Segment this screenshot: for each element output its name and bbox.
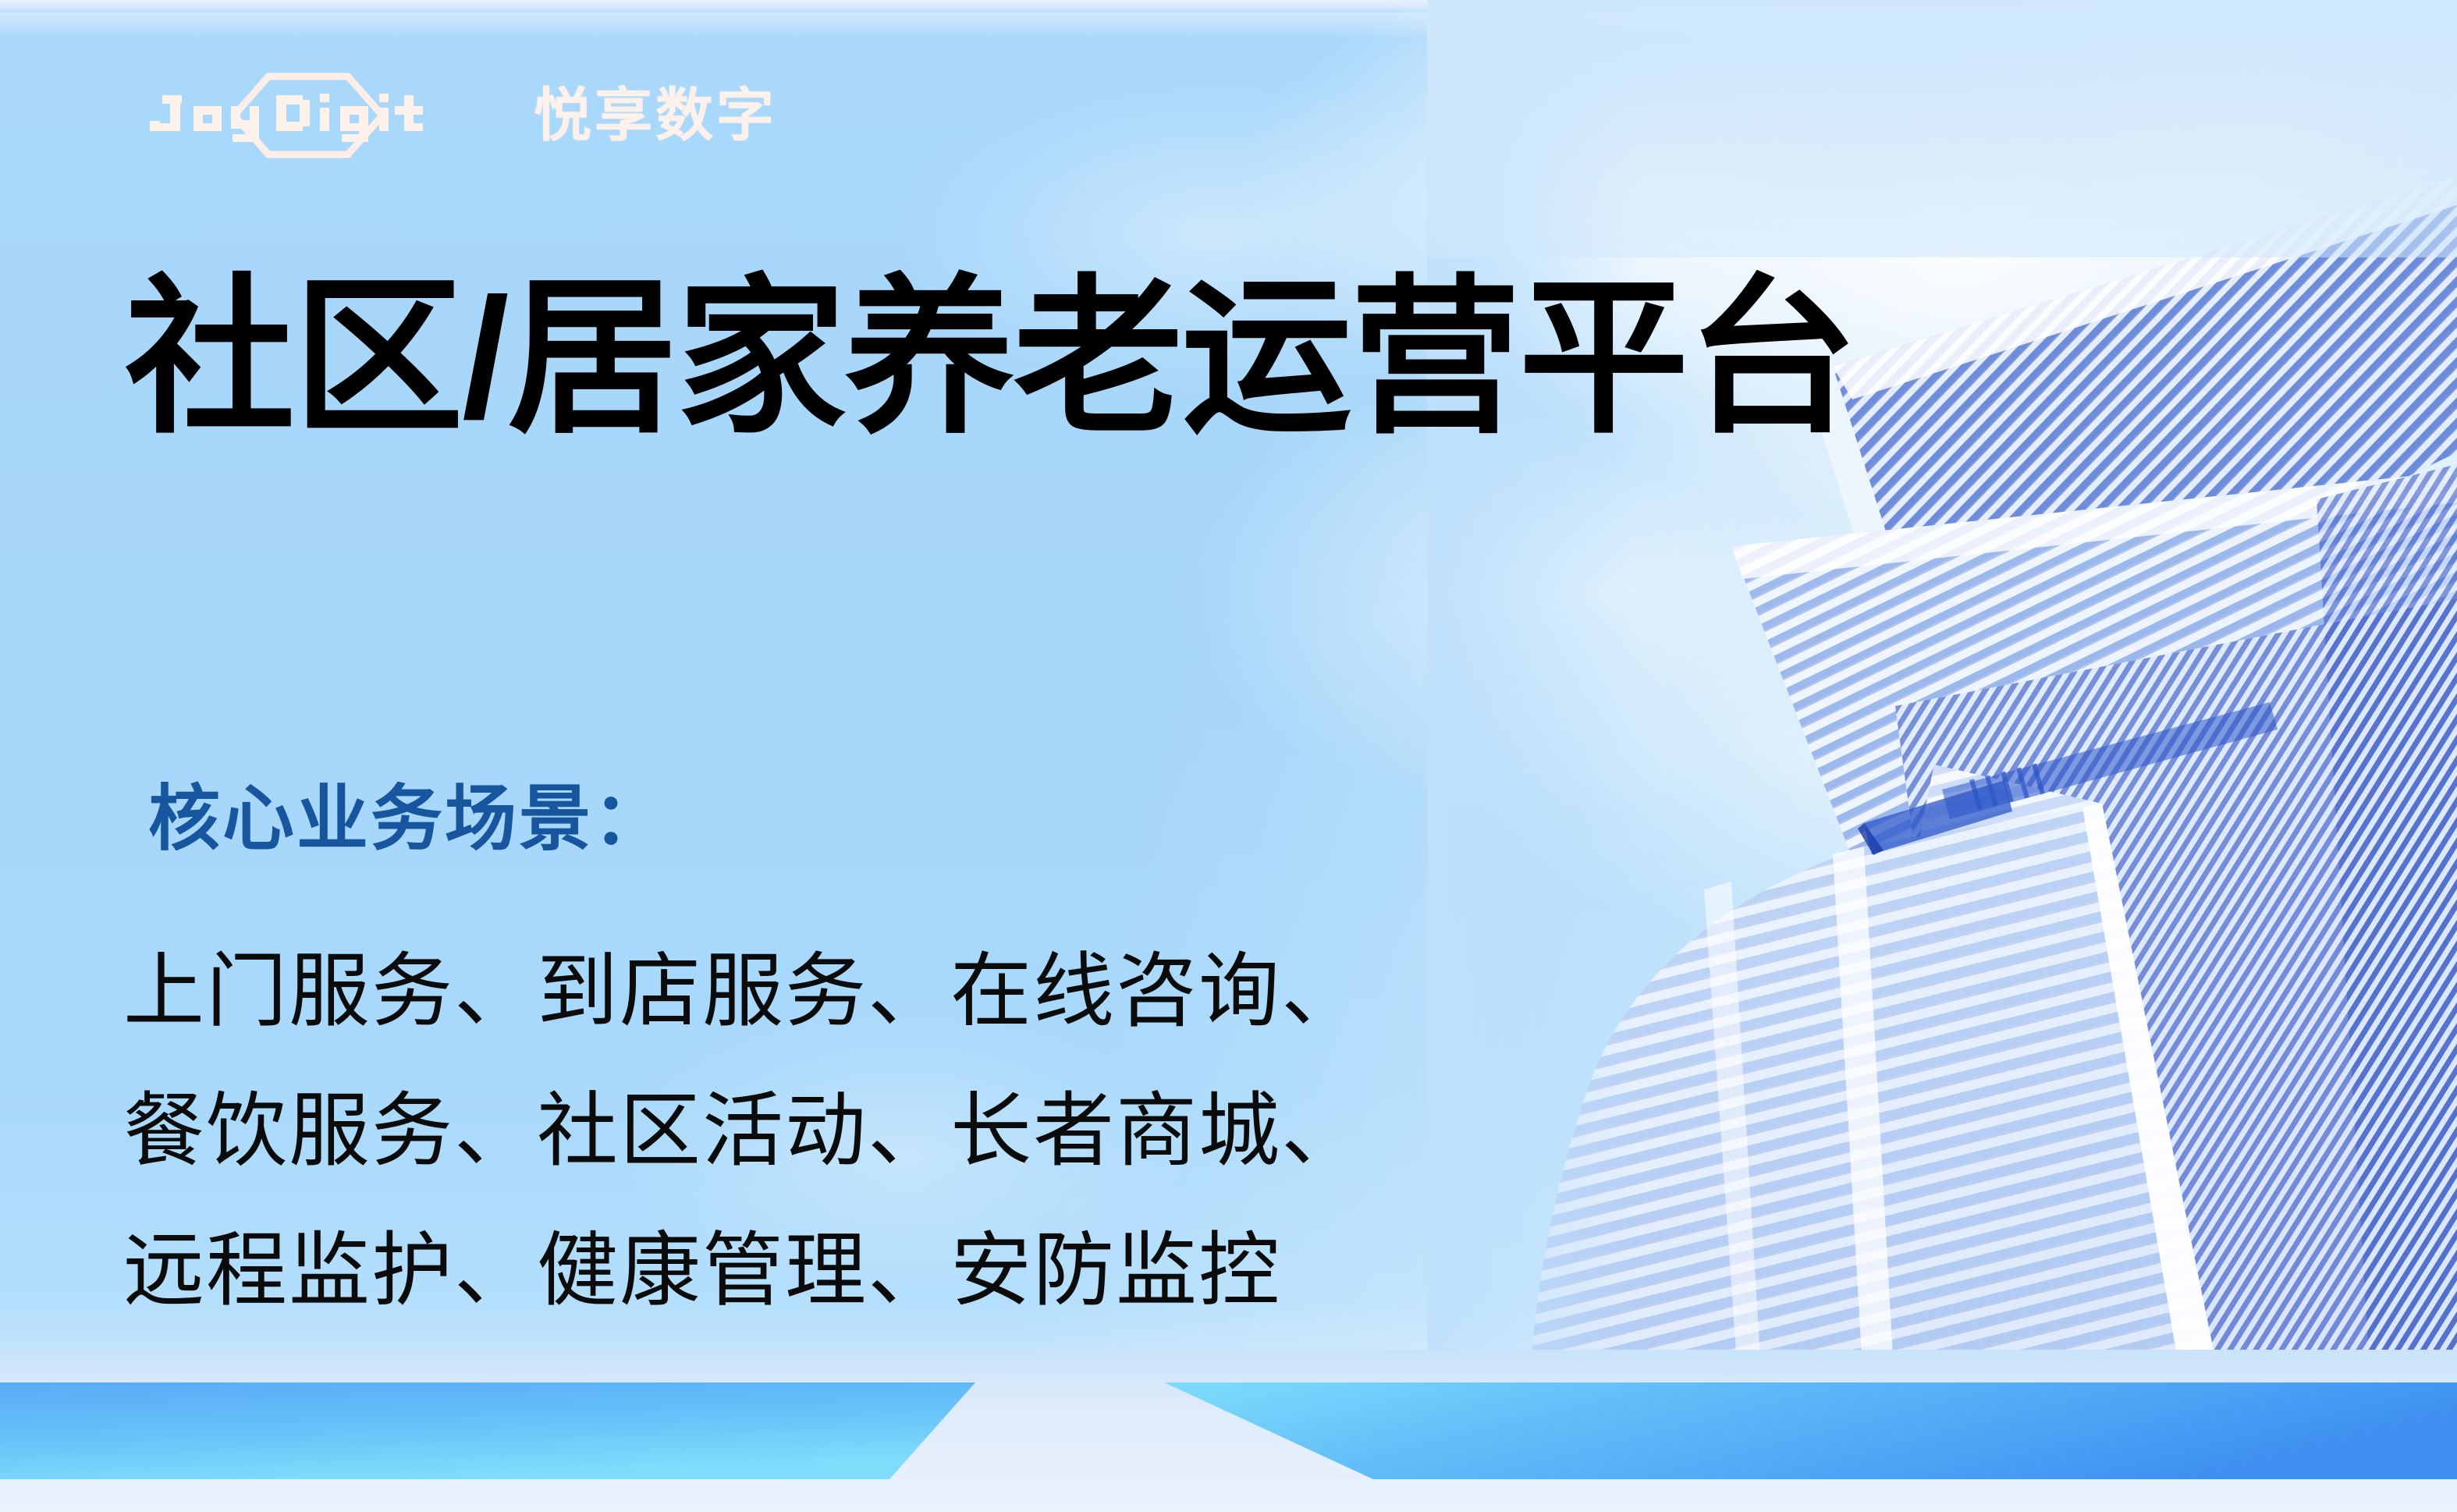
page-title: 社区/居家养老运营平台 bbox=[125, 264, 1856, 454]
footer-diagonal-shapes bbox=[0, 1350, 2457, 1512]
building-main-tower bbox=[1895, 593, 2457, 1397]
slide-canvas: 悦享数字 社区/居家养老运营平台 核心业务场景： 上门服务、到店服务、在线咨询、… bbox=[0, 0, 2457, 1512]
scenario-line-2: 餐饮服务、社区活动、长者商城、 bbox=[123, 1062, 1364, 1201]
band-shape-left bbox=[0, 1382, 975, 1479]
skyscraper-illustration bbox=[1427, 0, 2457, 1397]
scenario-line-3: 远程监护、健康管理、安防监控 bbox=[123, 1201, 1364, 1341]
brand-logo-chinese: 悦享数字 bbox=[534, 87, 777, 144]
building-right-edge bbox=[2317, 456, 2457, 1397]
brand-logo: 悦享数字 bbox=[139, 72, 777, 159]
joydigit-logo-icon bbox=[139, 72, 513, 159]
building-second-slab bbox=[1731, 468, 2457, 928]
section-subtitle: 核心业务场景： bbox=[148, 780, 667, 859]
building-wide-facade bbox=[1529, 807, 2184, 1397]
scenario-list: 上门服务、到店服务、在线咨询、 餐饮服务、社区活动、长者商城、 远程监护、健康管… bbox=[123, 922, 1364, 1341]
building-front-tower bbox=[1886, 765, 2223, 1397]
footer-decoration-band bbox=[0, 1350, 2457, 1512]
scenario-line-1: 上门服务、到店服务、在线咨询、 bbox=[123, 922, 1364, 1062]
building-upper-block bbox=[1809, 168, 2457, 714]
top-edge-strip bbox=[0, 0, 2457, 12]
joydigit-wordmark bbox=[139, 72, 513, 159]
building-roof-detail bbox=[1858, 702, 2278, 855]
band-shape-right bbox=[1164, 1382, 2457, 1479]
building-photo bbox=[1427, 0, 2457, 1397]
